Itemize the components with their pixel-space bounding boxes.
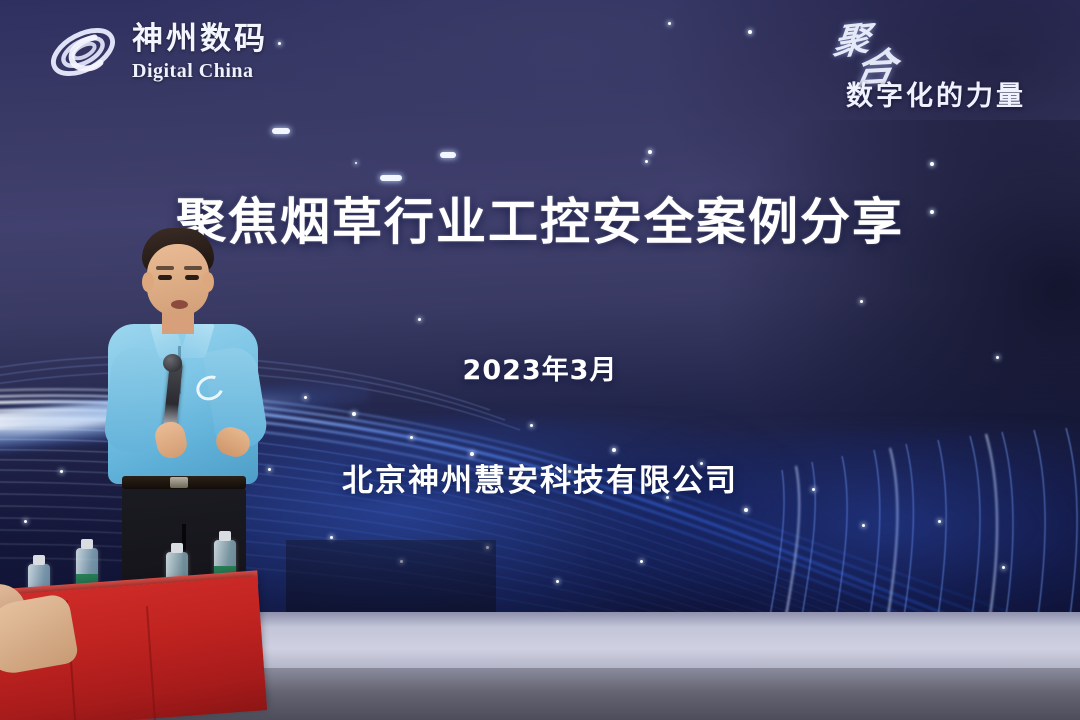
speaker-eye-left bbox=[158, 275, 172, 280]
bottle-cap bbox=[171, 543, 183, 553]
digital-china-logo: 神州数码 Digital China bbox=[44, 16, 268, 88]
speaker-eye-right bbox=[185, 275, 199, 280]
bottle-cap bbox=[33, 555, 45, 565]
logo-english-name: Digital China bbox=[132, 61, 268, 81]
speaker-belt-buckle bbox=[170, 477, 188, 488]
speaker-ear-left bbox=[142, 272, 154, 292]
stage-dark-area bbox=[286, 540, 496, 618]
digital-china-wordmark: 神州数码 Digital China bbox=[132, 24, 268, 81]
bottle-cap bbox=[81, 539, 93, 549]
speaker-ear-right bbox=[202, 272, 214, 292]
juhe-logo: 聚 合 数字化的力量 bbox=[798, 14, 1058, 120]
logo-chinese-name: 神州数码 bbox=[132, 24, 268, 55]
speaker-brow-left bbox=[156, 266, 174, 270]
speaker-brow-right bbox=[184, 266, 202, 270]
digital-china-swirl-icon bbox=[44, 16, 122, 88]
juhe-subtitle: 数字化的力量 bbox=[846, 74, 1026, 113]
microphone-head bbox=[163, 354, 182, 372]
bottle-cap bbox=[219, 531, 231, 541]
speaker-mouth bbox=[171, 300, 188, 309]
conference-photo: 神州数码 Digital China 聚 合 数字化的力量 聚焦烟草行业工控安全… bbox=[0, 0, 1080, 720]
